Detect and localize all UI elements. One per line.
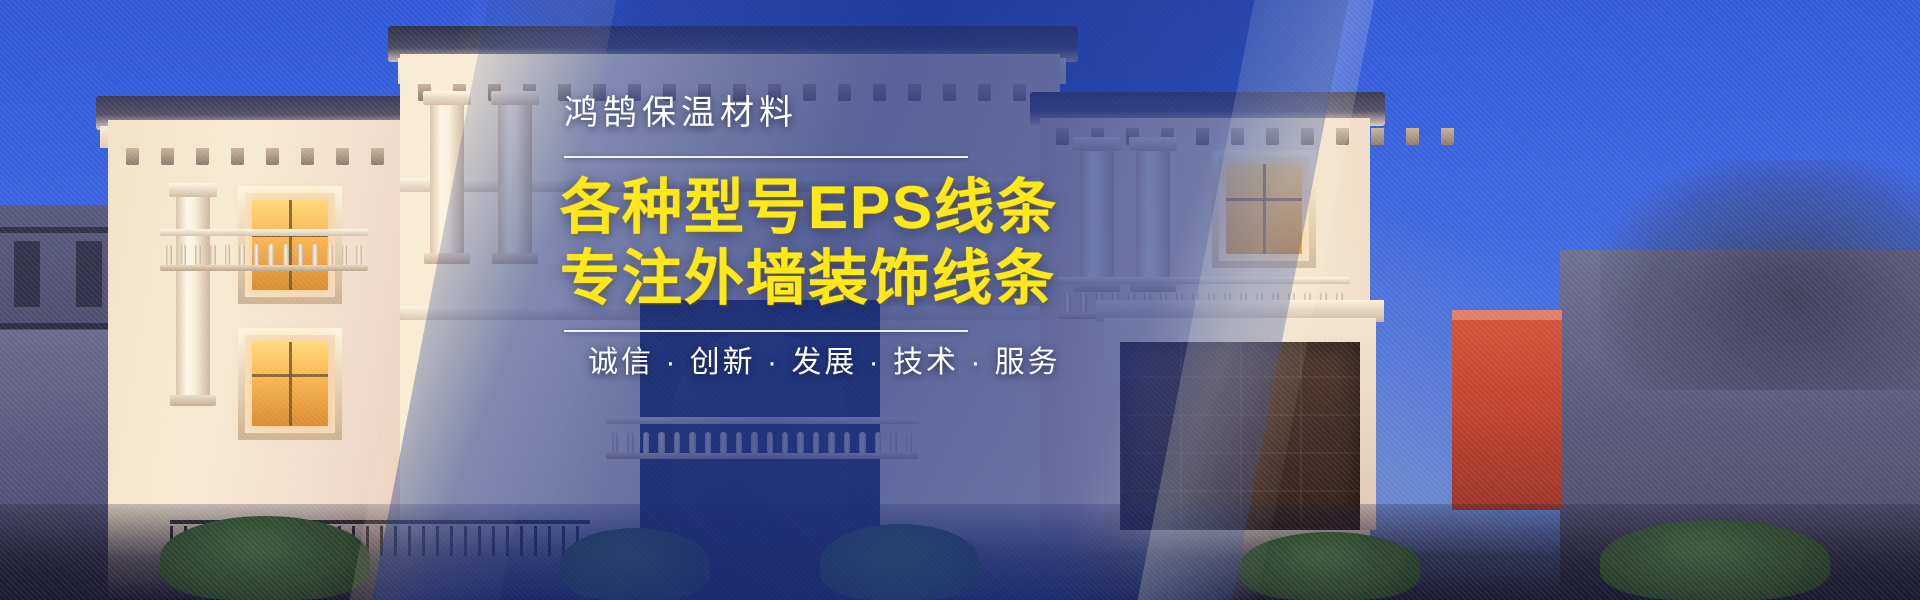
promo-banner: 鸿鹄保温材料 各种型号EPS线条 专注外墙装饰线条 诚信 · 创新 · 发展 ·… (0, 0, 1920, 600)
banner-text-block: 鸿鹄保温材料 各种型号EPS线条 专注外墙装饰线条 诚信 · 创新 · 发展 ·… (560, 96, 1320, 378)
headline: 各种型号EPS线条 专注外墙装饰线条 (560, 176, 1320, 310)
shrub-far-right (1600, 520, 1830, 600)
left-wing-balustrade (166, 236, 362, 266)
headline-line-1: 各种型号EPS线条 (560, 176, 1320, 239)
center-column-2 (498, 104, 532, 254)
shrub-center-right (820, 524, 980, 600)
red-structure (1452, 310, 1562, 510)
left-wing-window-lower (252, 342, 328, 426)
divider-top (564, 156, 968, 158)
divider-bottom (564, 330, 968, 332)
shrub-right (1240, 532, 1420, 600)
center-balustrade (612, 424, 912, 454)
tagline: 诚信 · 创新 · 发展 · 技术 · 服务 (588, 348, 1320, 378)
tree-silhouette (1600, 160, 1920, 390)
shrub-left (160, 516, 370, 600)
left-wing-column (176, 196, 210, 396)
brand-name: 鸿鹄保温材料 (564, 96, 1320, 130)
shrub-center-left (560, 528, 710, 600)
center-column-1 (430, 104, 464, 254)
headline-line-2: 专注外墙装饰线条 (560, 247, 1320, 310)
